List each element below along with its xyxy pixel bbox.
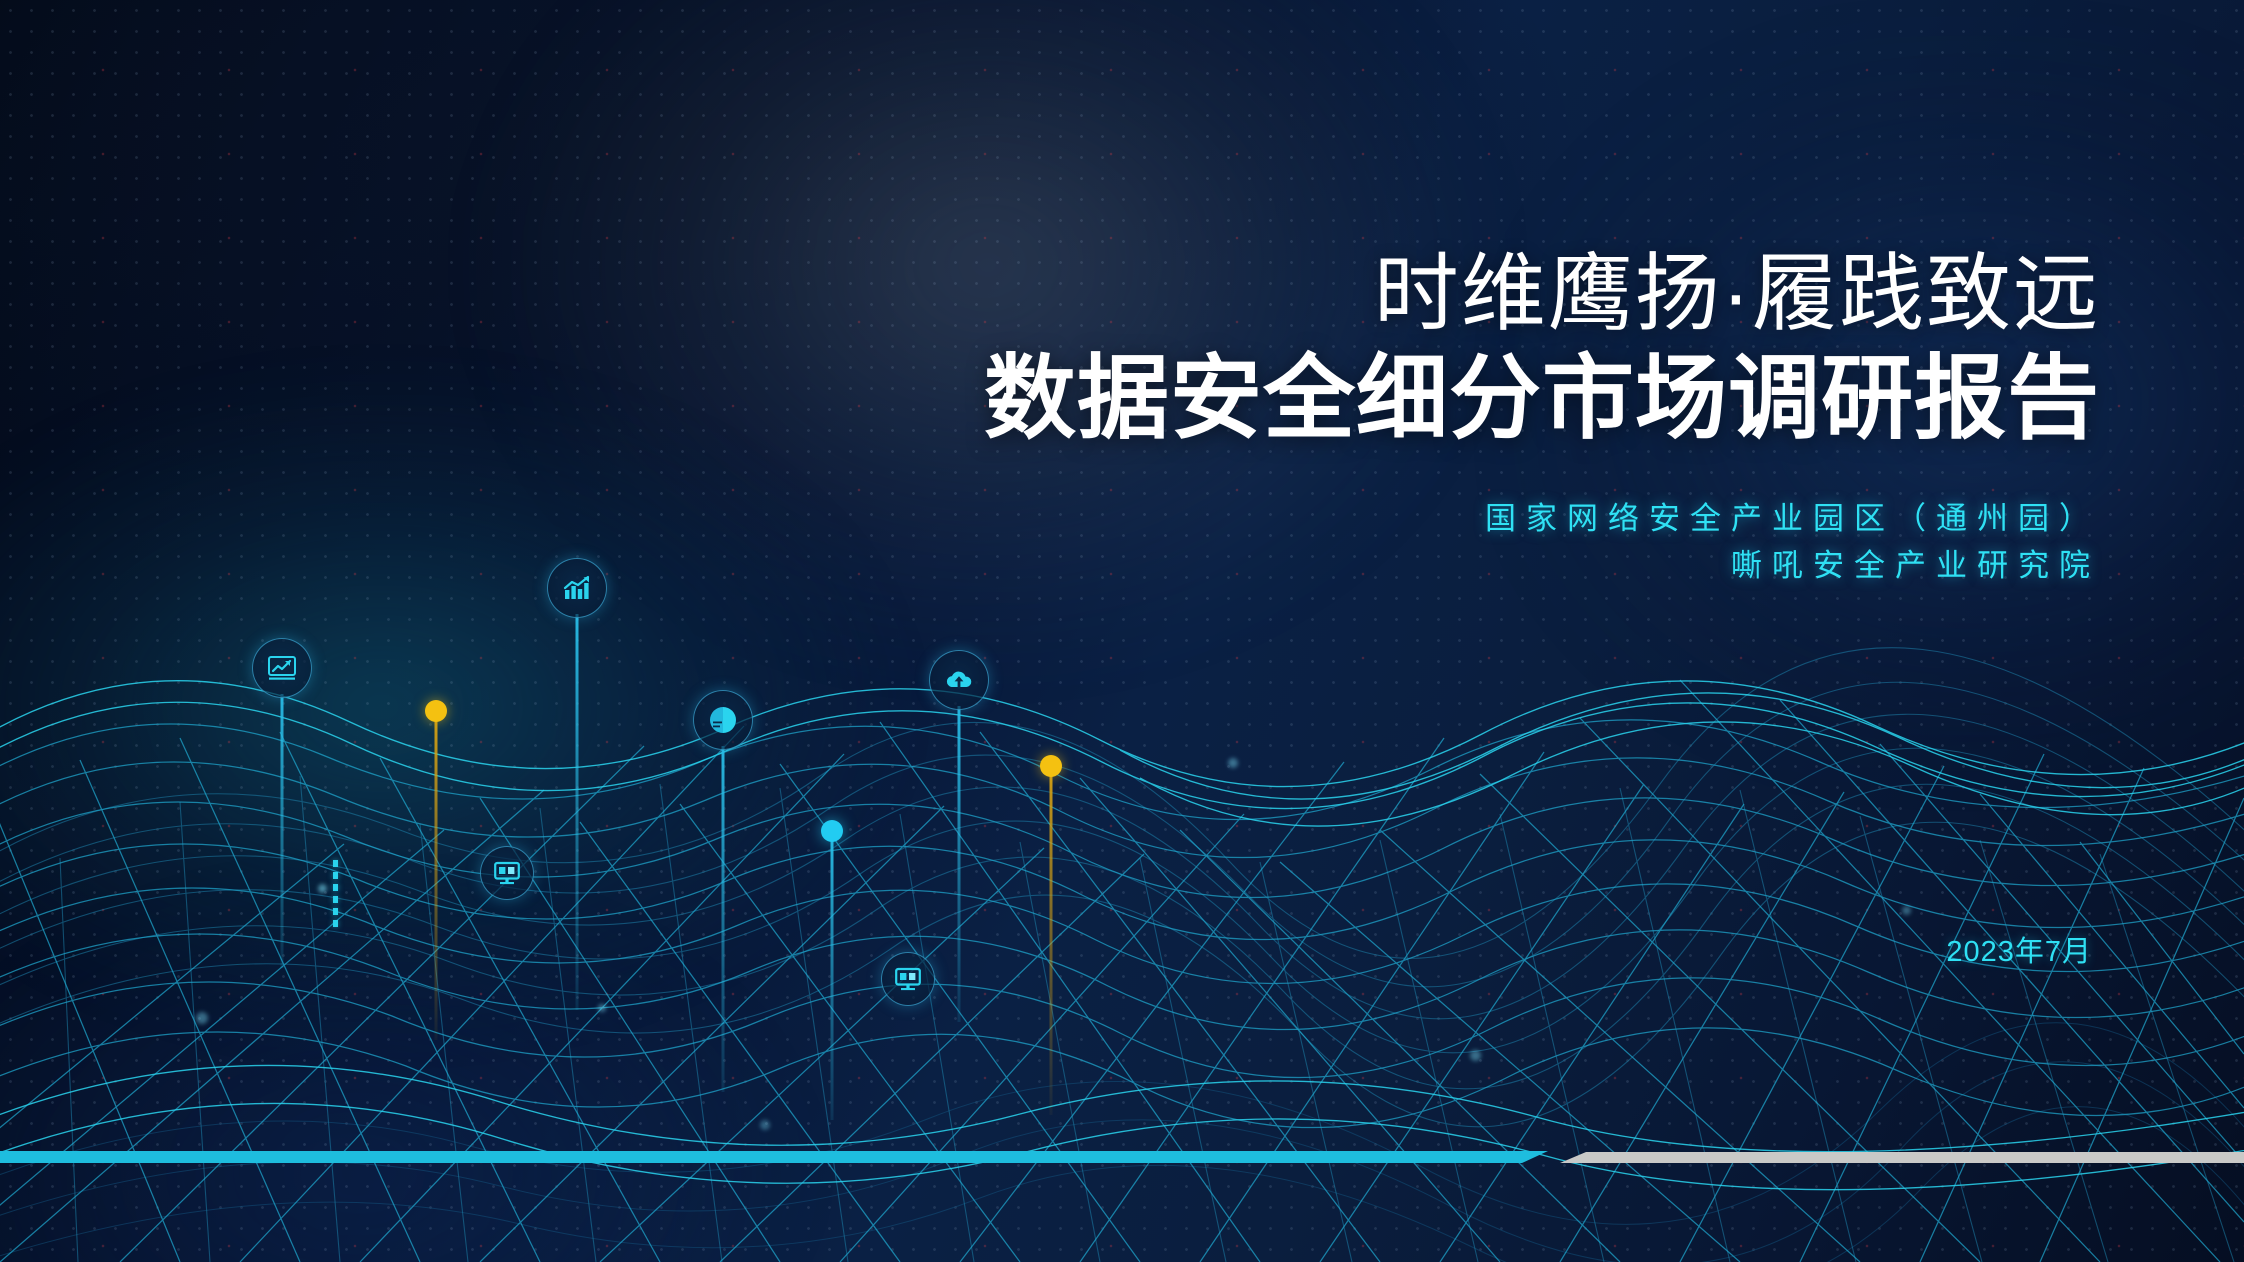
marker-bar-chart[interactable] <box>548 558 606 1010</box>
pin-stem <box>722 746 725 1092</box>
dash-marker <box>333 860 338 927</box>
cyan-dot-icon <box>821 820 843 842</box>
title-slide: 时维鹰扬·履践致远 数据安全细分市场调研报告 国家网络安全产业园区（通州园） 嘶… <box>0 0 2244 1262</box>
marker-monitor-right[interactable] <box>882 952 934 1004</box>
terrain-layer-mid <box>0 680 2244 1262</box>
marker-gold-dot-right[interactable] <box>1040 755 1062 1115</box>
marker-monitor-left[interactable] <box>481 846 533 898</box>
pin-stem <box>435 720 438 1040</box>
pin-stem <box>281 694 284 968</box>
pin-head[interactable] <box>252 638 312 698</box>
pin-stem <box>576 614 579 1010</box>
marker-cyan-dot[interactable] <box>821 820 843 1120</box>
terrain-layer-near <box>0 681 2244 1190</box>
pin-stem <box>958 706 961 1022</box>
mesh-speck <box>1902 906 1911 915</box>
pin-stem <box>1050 775 1053 1115</box>
subtitle-block: 国家网络安全产业园区（通州园） 嘶吼安全产业研究院 <box>984 495 2100 589</box>
mesh-speck <box>1228 758 1238 768</box>
pin-head[interactable] <box>547 558 607 618</box>
marker-cloud-upload[interactable] <box>930 650 988 1022</box>
pin-head[interactable] <box>929 650 989 710</box>
title-line-2: 数据安全细分市场调研报告 <box>984 353 2100 447</box>
cloud-upload-icon <box>944 668 974 692</box>
pin-head[interactable] <box>881 952 935 1006</box>
marker-chart-frame[interactable] <box>253 638 311 968</box>
chart-frame-icon <box>267 655 297 681</box>
marker-gold-dot-left[interactable] <box>425 700 447 1040</box>
marker-pie-chart[interactable] <box>694 690 752 1092</box>
monitor-left-icon <box>494 861 520 885</box>
gold-dot-icon <box>1040 755 1062 777</box>
bottom-divider <box>0 1150 2244 1164</box>
bar-chart-up-icon <box>562 575 592 601</box>
mesh-speck <box>1470 1050 1481 1061</box>
subtitle-line-2: 嘶吼安全产业研究院 <box>984 542 2100 589</box>
monitor-right-icon <box>895 967 921 991</box>
divider-grey-segment <box>1560 1152 2244 1163</box>
pie-chart-icon <box>709 706 737 734</box>
subtitle-line-1: 国家网络安全产业园区（通州园） <box>984 495 2100 542</box>
title-text-block: 时维鹰扬·履践致远 数据安全细分市场调研报告 国家网络安全产业园区（通州园） 嘶… <box>984 252 2100 589</box>
title-line-1: 时维鹰扬·履践致远 <box>984 252 2100 339</box>
pin-head[interactable] <box>480 846 534 900</box>
divider-cyan-segment <box>0 1151 1548 1163</box>
mesh-speck <box>760 1120 770 1130</box>
pin-head[interactable] <box>693 690 753 750</box>
mesh-speck <box>196 1012 208 1024</box>
mesh-speck <box>318 884 327 893</box>
date-label: 2023年7月 <box>1946 928 2092 970</box>
gold-dot-icon <box>425 700 447 722</box>
pin-stem <box>831 840 834 1120</box>
